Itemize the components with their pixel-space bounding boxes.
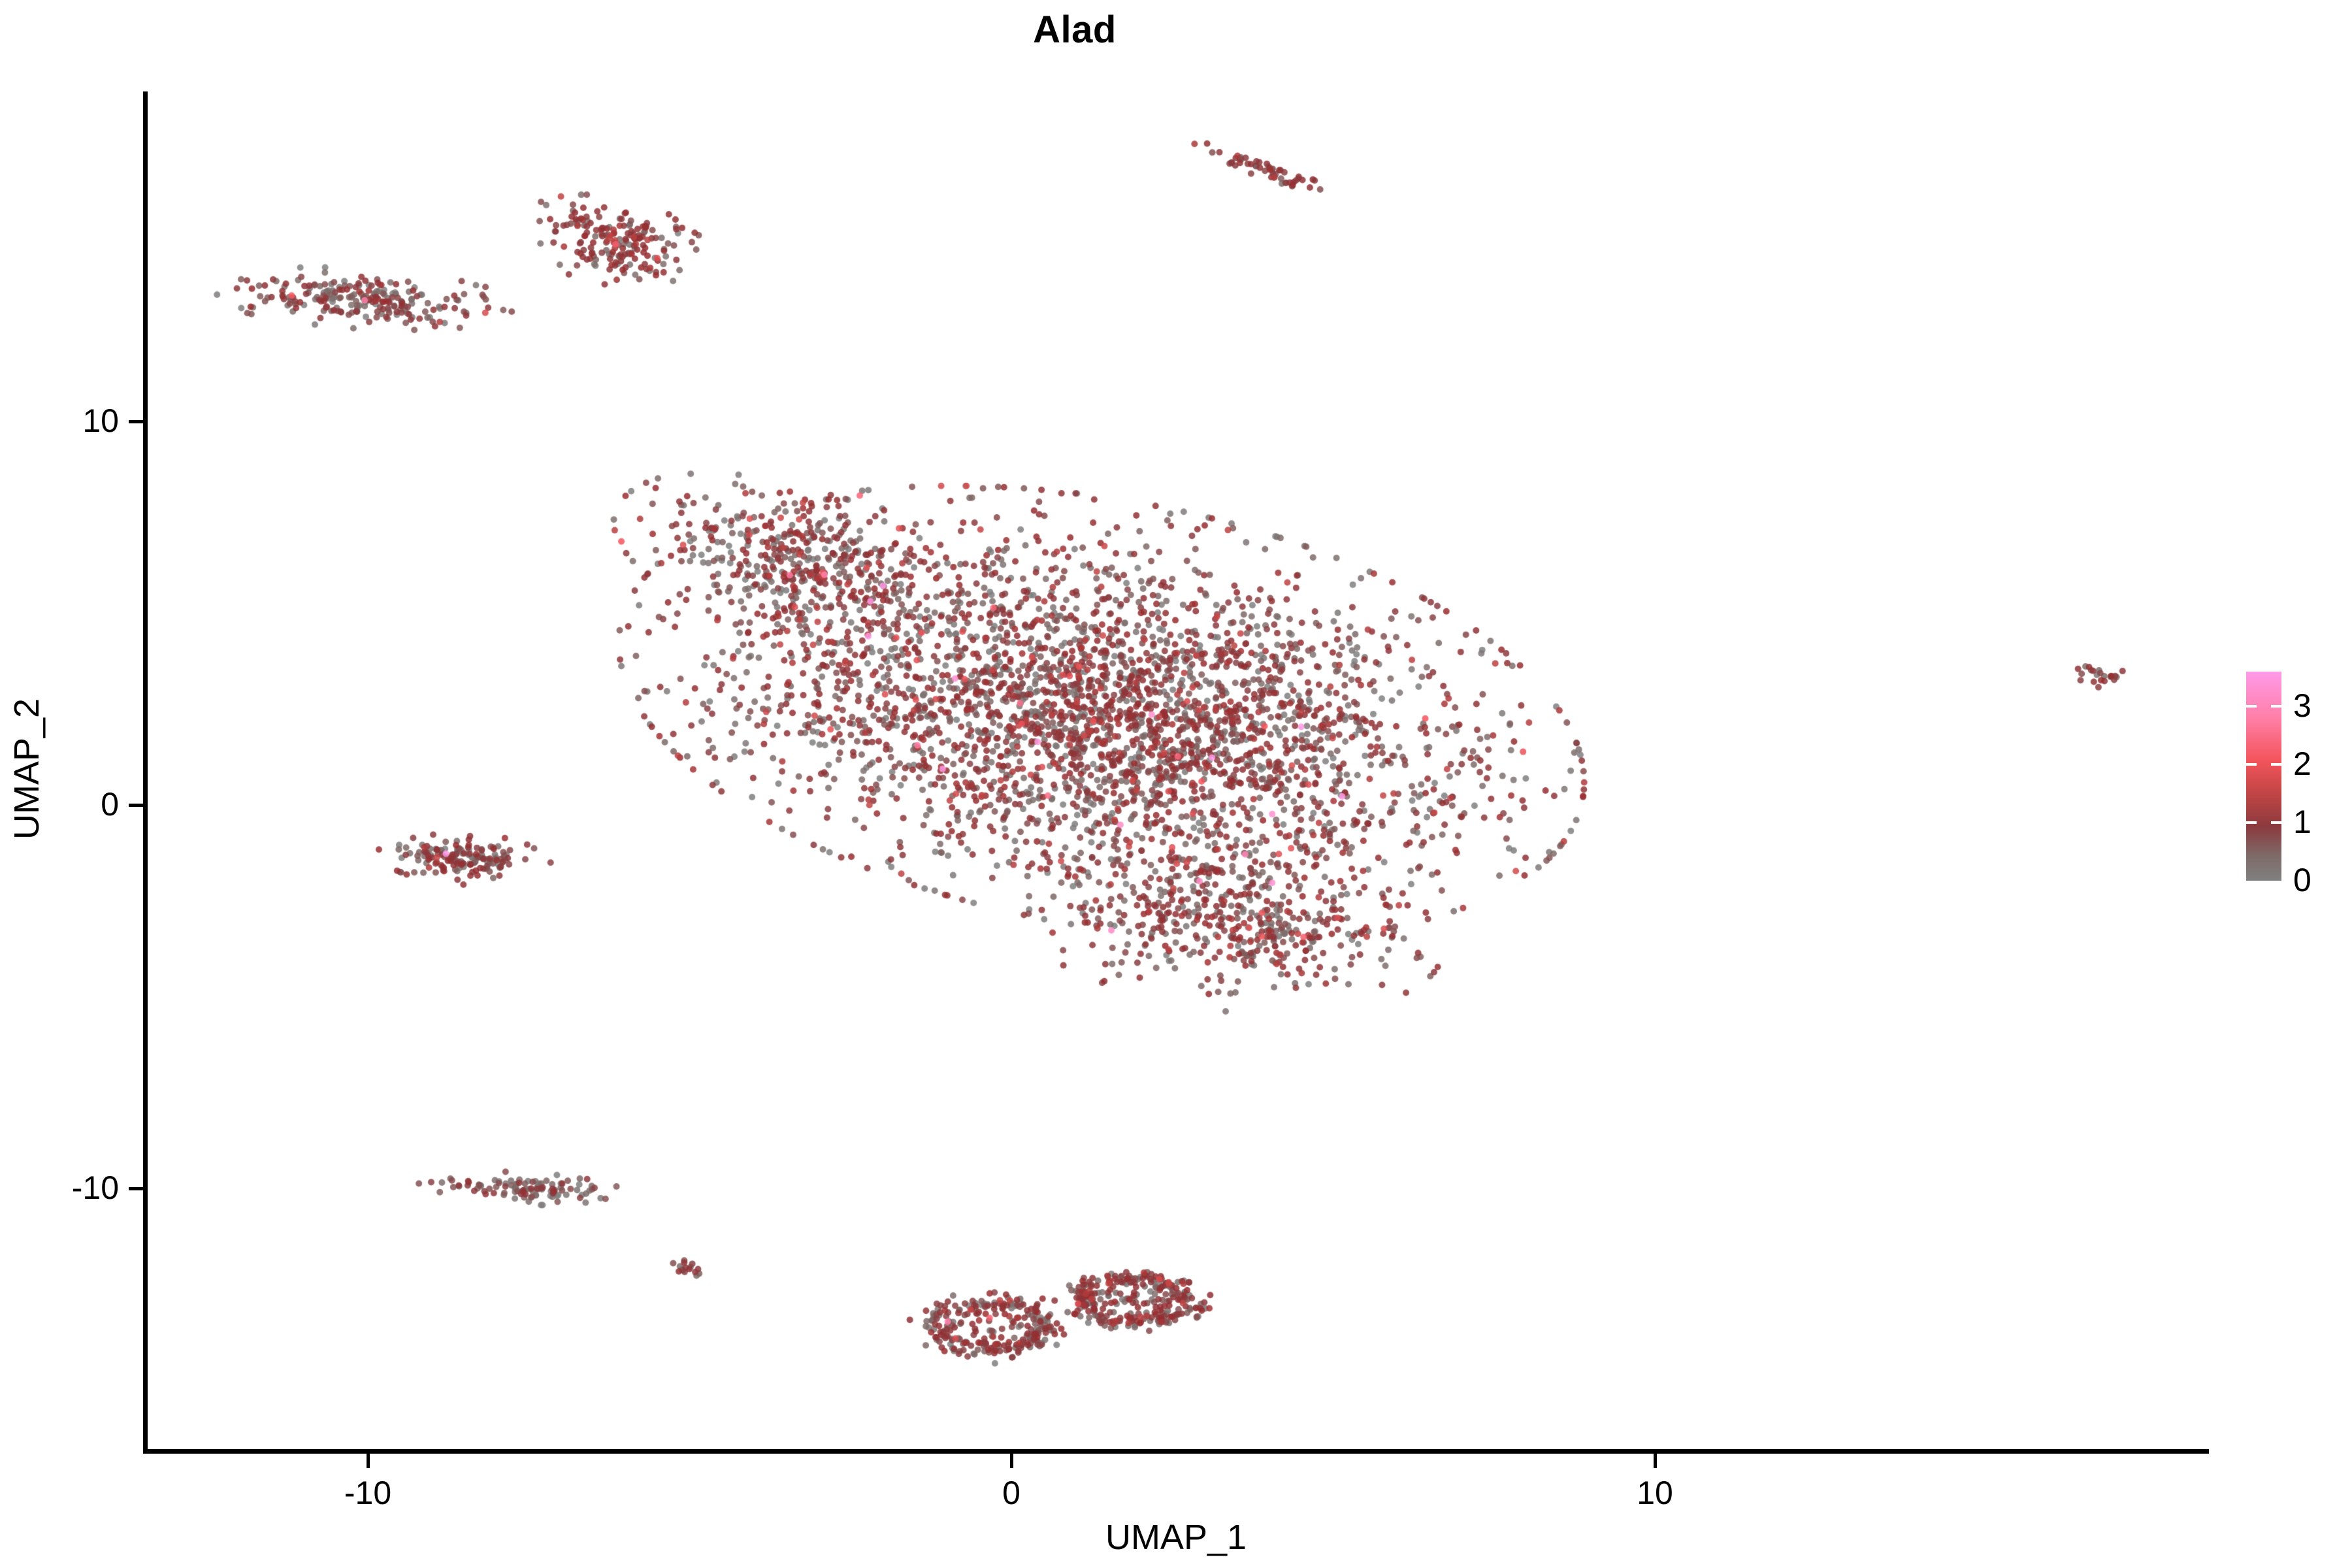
legend-label: 3 <box>2293 689 2311 722</box>
x-tick-label: 10 <box>1590 1474 1720 1512</box>
legend-tick <box>2246 763 2257 766</box>
x-tick-mark <box>1654 1454 1657 1468</box>
plot-panel <box>144 91 2208 1452</box>
x-axis-line <box>143 1449 2209 1454</box>
legend-tick <box>2271 763 2281 766</box>
legend-tick <box>2246 705 2257 708</box>
x-axis-title: UMAP_1 <box>144 1517 2208 1558</box>
legend-label: 0 <box>2293 864 2311 896</box>
x-tick-mark <box>367 1454 370 1468</box>
legend-tick <box>2271 705 2281 708</box>
x-tick-mark <box>1010 1454 1013 1468</box>
x-tick-label: -10 <box>302 1474 433 1512</box>
x-tick-label: 0 <box>946 1474 1077 1512</box>
y-axis-title: UMAP_2 <box>7 89 47 1449</box>
legend-colorbar[interactable] <box>2246 672 2281 881</box>
legend: 3210 <box>2246 672 2344 887</box>
y-axis-line <box>143 91 148 1452</box>
legend-tick <box>2246 821 2257 824</box>
legend-tick <box>2271 821 2281 824</box>
page-title: Alad <box>0 8 2149 52</box>
legend-label: 2 <box>2293 747 2311 780</box>
feature-plot-root: Alad -10010-10010 UMAP_1 UMAP_2 3210 <box>0 0 2352 1568</box>
scatter-canvas <box>144 91 2208 1452</box>
legend-label: 1 <box>2293 806 2311 838</box>
